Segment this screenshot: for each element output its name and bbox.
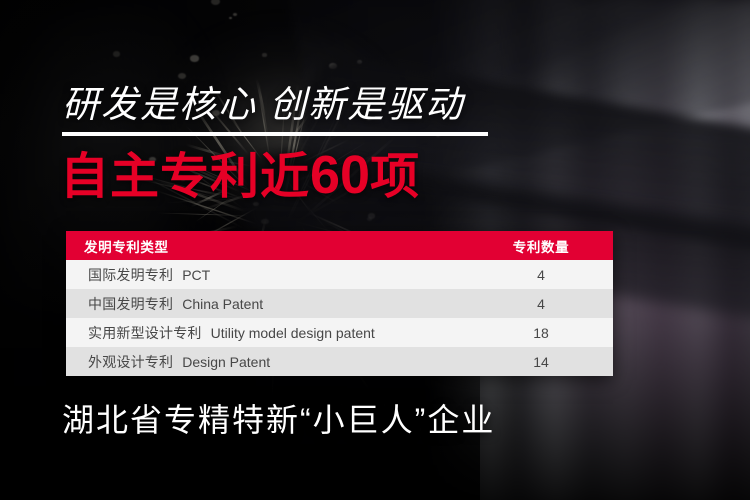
banner-content: 研发是核心 创新是驱动 自主专利近60项 发明专利类型 专利数量 国际发明专利 … [0,0,750,500]
cell-type-en: China Patent [182,296,263,312]
cell-type-en: PCT [182,267,210,283]
table-row: 中国发明专利 China Patent 4 [66,289,613,318]
headline-primary: 研发是核心 创新是驱动 [62,83,464,127]
cell-patent-count: 14 [473,354,613,370]
table-row: 实用新型设计专利 Utility model design patent 18 [66,318,613,347]
column-header-type: 发明专利类型 [66,236,473,256]
cell-type-cn: 外观设计专利 [88,352,173,372]
headline-secondary: 自主专利近60项 [60,146,420,206]
headline-divider-rule [62,132,488,136]
cell-type-en: Utility model design patent [211,325,375,341]
headline-secondary-prefix: 自主专利近 [60,150,310,204]
table-header-row: 发明专利类型 专利数量 [66,231,613,260]
headline-secondary-suffix: 项 [370,150,420,204]
cell-patent-type: 中国发明专利 China Patent [66,294,473,314]
column-header-count: 专利数量 [473,236,613,256]
banner-caption: 湖北省专精特新“小巨人”企业 [62,400,495,440]
table-row: 外观设计专利 Design Patent 14 [66,347,613,376]
cell-patent-count: 4 [473,267,613,283]
banner-stage: 研发是核心 创新是驱动 自主专利近60项 发明专利类型 专利数量 国际发明专利 … [0,0,750,500]
cell-type-en: Design Patent [182,354,270,370]
cell-patent-type: 实用新型设计专利 Utility model design patent [66,323,473,343]
patent-table: 发明专利类型 专利数量 国际发明专利 PCT 4 中国发明专利 China Pa… [66,231,613,376]
cell-patent-type: 外观设计专利 Design Patent [66,352,473,372]
table-row: 国际发明专利 PCT 4 [66,260,613,289]
cell-patent-count: 4 [473,296,613,312]
cell-type-cn: 中国发明专利 [88,294,173,314]
headline-secondary-number: 60 [310,145,370,205]
cell-patent-count: 18 [473,325,613,341]
cell-patent-type: 国际发明专利 PCT [66,265,473,285]
cell-type-cn: 实用新型设计专利 [88,323,202,343]
cell-type-cn: 国际发明专利 [88,265,173,285]
